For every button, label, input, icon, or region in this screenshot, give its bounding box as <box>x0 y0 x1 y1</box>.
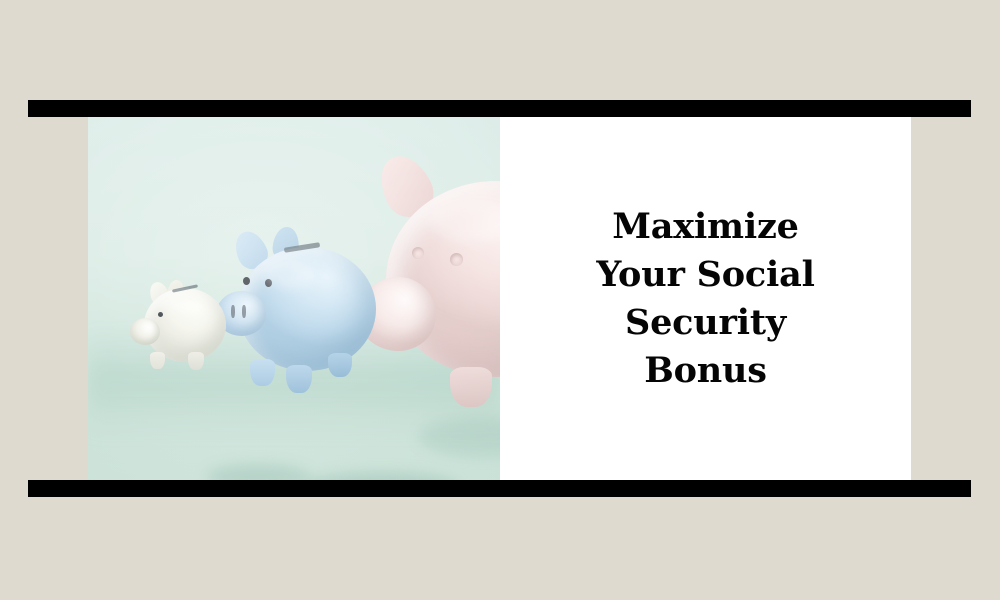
medium-blue-piggy-bank-icon <box>216 229 386 397</box>
banner: Maximize Your Social Security Bonus <box>88 117 911 481</box>
blue-piggy-eye-left <box>243 277 250 285</box>
small-white-piggy-bank-icon <box>130 282 230 377</box>
bottom-rule-bar <box>28 480 971 497</box>
headline-card: Maximize Your Social Security Bonus <box>500 117 911 481</box>
pink-piggy-leg-front <box>450 367 492 407</box>
blue-piggy-highlight <box>264 259 316 289</box>
white-piggy-eye <box>158 312 163 317</box>
piggy-bank-photo <box>88 117 500 481</box>
blue-piggy-nostril-left <box>231 305 235 318</box>
white-piggy-highlight <box>160 294 190 312</box>
blue-piggy-leg-mid <box>286 365 312 393</box>
pink-piggy-eye-right <box>450 253 463 266</box>
pink-piggy-eye-left <box>412 247 424 259</box>
page-root: Maximize Your Social Security Bonus <box>0 0 1000 600</box>
white-piggy-leg-front <box>150 352 165 369</box>
blue-piggy-leg-rear <box>328 353 352 377</box>
white-piggy-snout <box>130 318 160 345</box>
blue-piggy-leg-front <box>250 359 275 386</box>
blue-piggy-nostril-right <box>242 305 246 318</box>
page-title: Maximize Your Social Security Bonus <box>554 203 858 395</box>
top-rule-bar <box>28 100 971 117</box>
white-piggy-leg-rear <box>188 352 204 370</box>
